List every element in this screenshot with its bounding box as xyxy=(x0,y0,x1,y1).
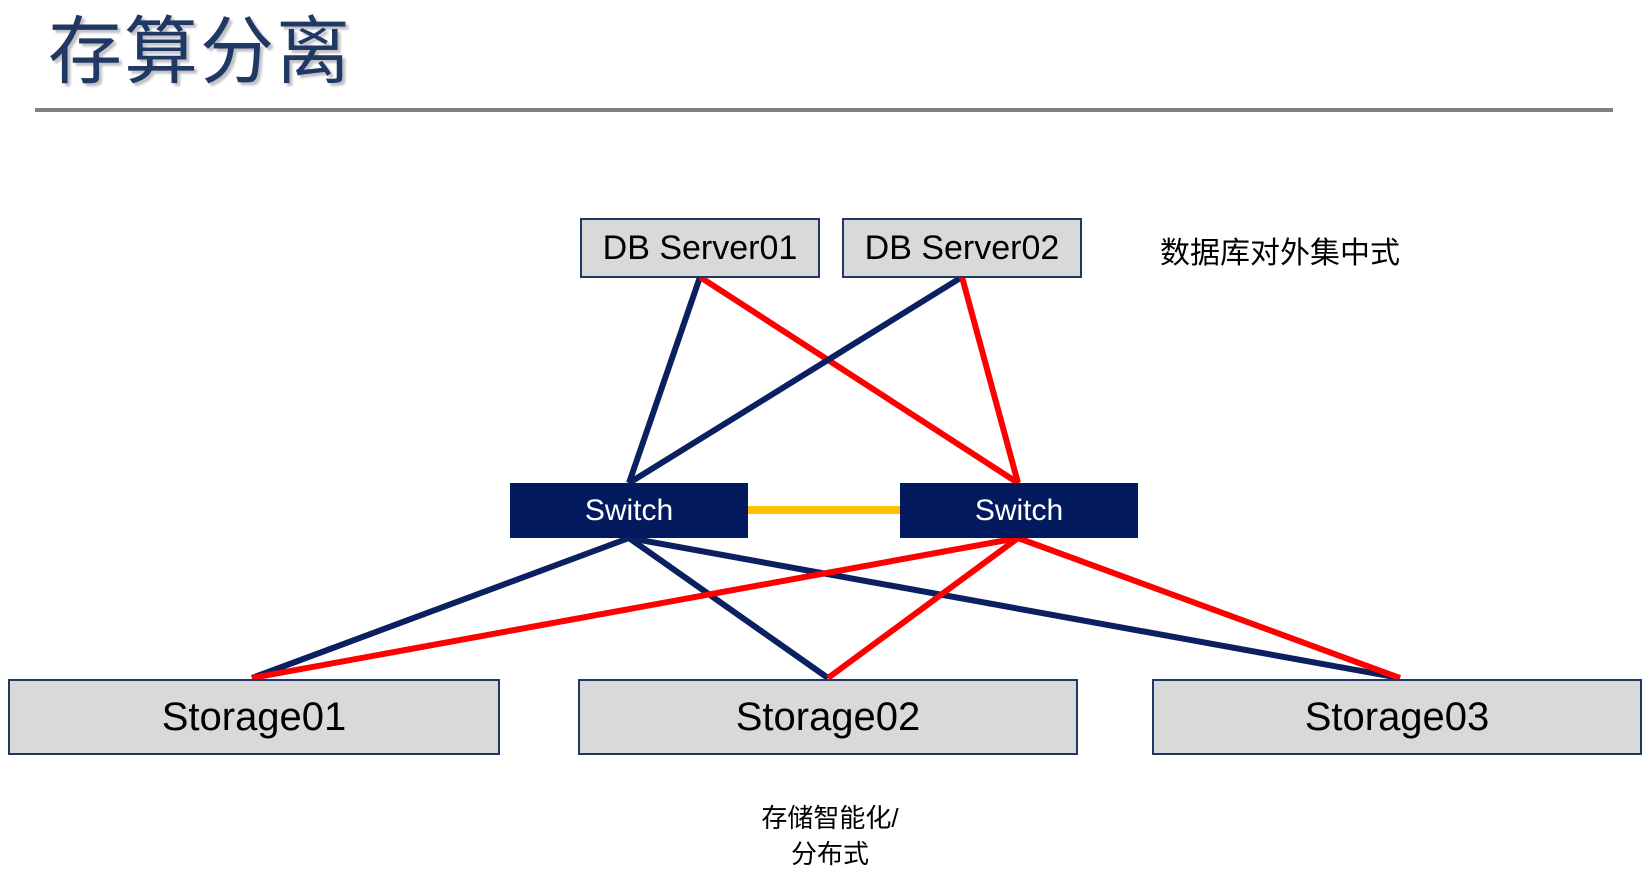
link-db02-switch01 xyxy=(629,277,962,483)
link-switch02-storage02 xyxy=(828,538,1018,678)
node-switch-01[interactable]: Switch xyxy=(510,483,748,538)
node-storage-01-label: Storage01 xyxy=(162,695,347,740)
node-switch-02-label: Switch xyxy=(975,494,1063,528)
node-storage-03[interactable]: Storage03 xyxy=(1152,679,1642,755)
node-db-server-01[interactable]: DB Server01 xyxy=(580,218,820,278)
annotation-storage-layer-line1: 存储智能化/ xyxy=(680,800,980,836)
link-switch01-storage03 xyxy=(629,538,1400,678)
link-switch02-storage01 xyxy=(252,538,1018,678)
slide-canvas: 存算分离 DB Server01 DB Server02 数据库对外集中式 Sw… xyxy=(0,0,1648,886)
node-db-server-02[interactable]: DB Server02 xyxy=(842,218,1082,278)
node-switch-02[interactable]: Switch xyxy=(900,483,1138,538)
node-db-server-01-label: DB Server01 xyxy=(603,229,798,268)
node-switch-01-label: Switch xyxy=(585,494,673,528)
link-switch02-storage03 xyxy=(1018,538,1400,678)
link-db01-switch01 xyxy=(629,277,700,483)
link-switch01-storage02 xyxy=(629,538,828,678)
link-switch01-storage01 xyxy=(252,538,629,678)
link-db01-switch02 xyxy=(700,277,1018,483)
node-storage-02[interactable]: Storage02 xyxy=(578,679,1078,755)
annotation-storage-layer-line2: 分布式 xyxy=(680,836,980,872)
node-storage-03-label: Storage03 xyxy=(1305,695,1490,740)
annotation-db-layer: 数据库对外集中式 xyxy=(1160,228,1400,272)
annotation-storage-layer: 存储智能化/ 分布式 xyxy=(680,800,980,872)
node-storage-02-label: Storage02 xyxy=(736,695,921,740)
node-storage-01[interactable]: Storage01 xyxy=(8,679,500,755)
page-title: 存算分离 xyxy=(48,6,352,98)
link-db02-switch02 xyxy=(962,277,1018,483)
node-db-server-02-label: DB Server02 xyxy=(865,229,1060,268)
title-divider xyxy=(35,108,1613,112)
